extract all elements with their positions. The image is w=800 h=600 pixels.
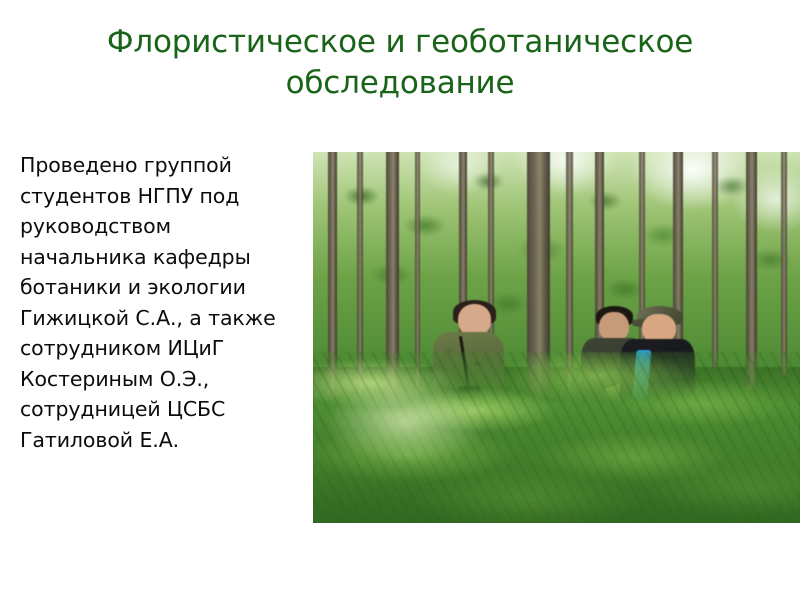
tree-trunk-icon [712, 152, 718, 367]
tree-trunk-icon [781, 152, 788, 375]
head [458, 304, 491, 336]
fern-sunlight-highlight [323, 382, 489, 464]
page-title: Флористическое и геоботаническое обследо… [30, 22, 770, 104]
photo-scene [313, 152, 800, 523]
forest-survey-photo [313, 152, 800, 523]
body-paragraph: Проведено группой студентов НГПУ под рук… [20, 150, 302, 455]
slide: Флористическое и геоботаническое обследо… [0, 0, 800, 600]
